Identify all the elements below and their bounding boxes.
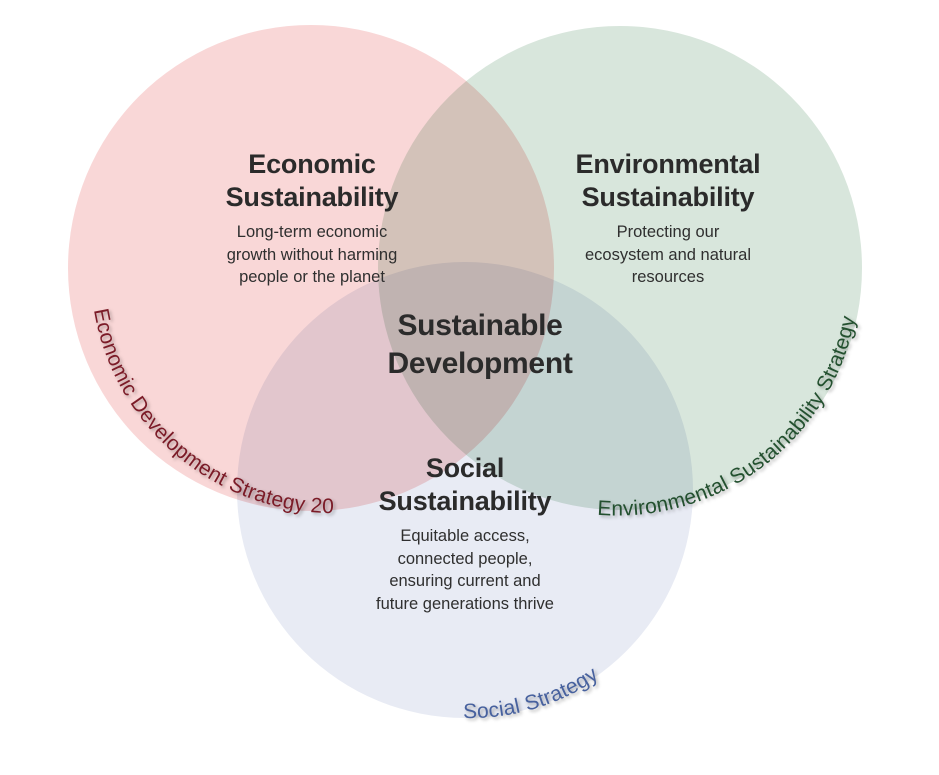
social-circle[interactable] [237,262,693,718]
venn-circles-canvas: Economic Development Strategy 2025-2035 … [0,0,939,775]
venn-diagram: Economic Development Strategy 2025-2035 … [0,0,939,775]
